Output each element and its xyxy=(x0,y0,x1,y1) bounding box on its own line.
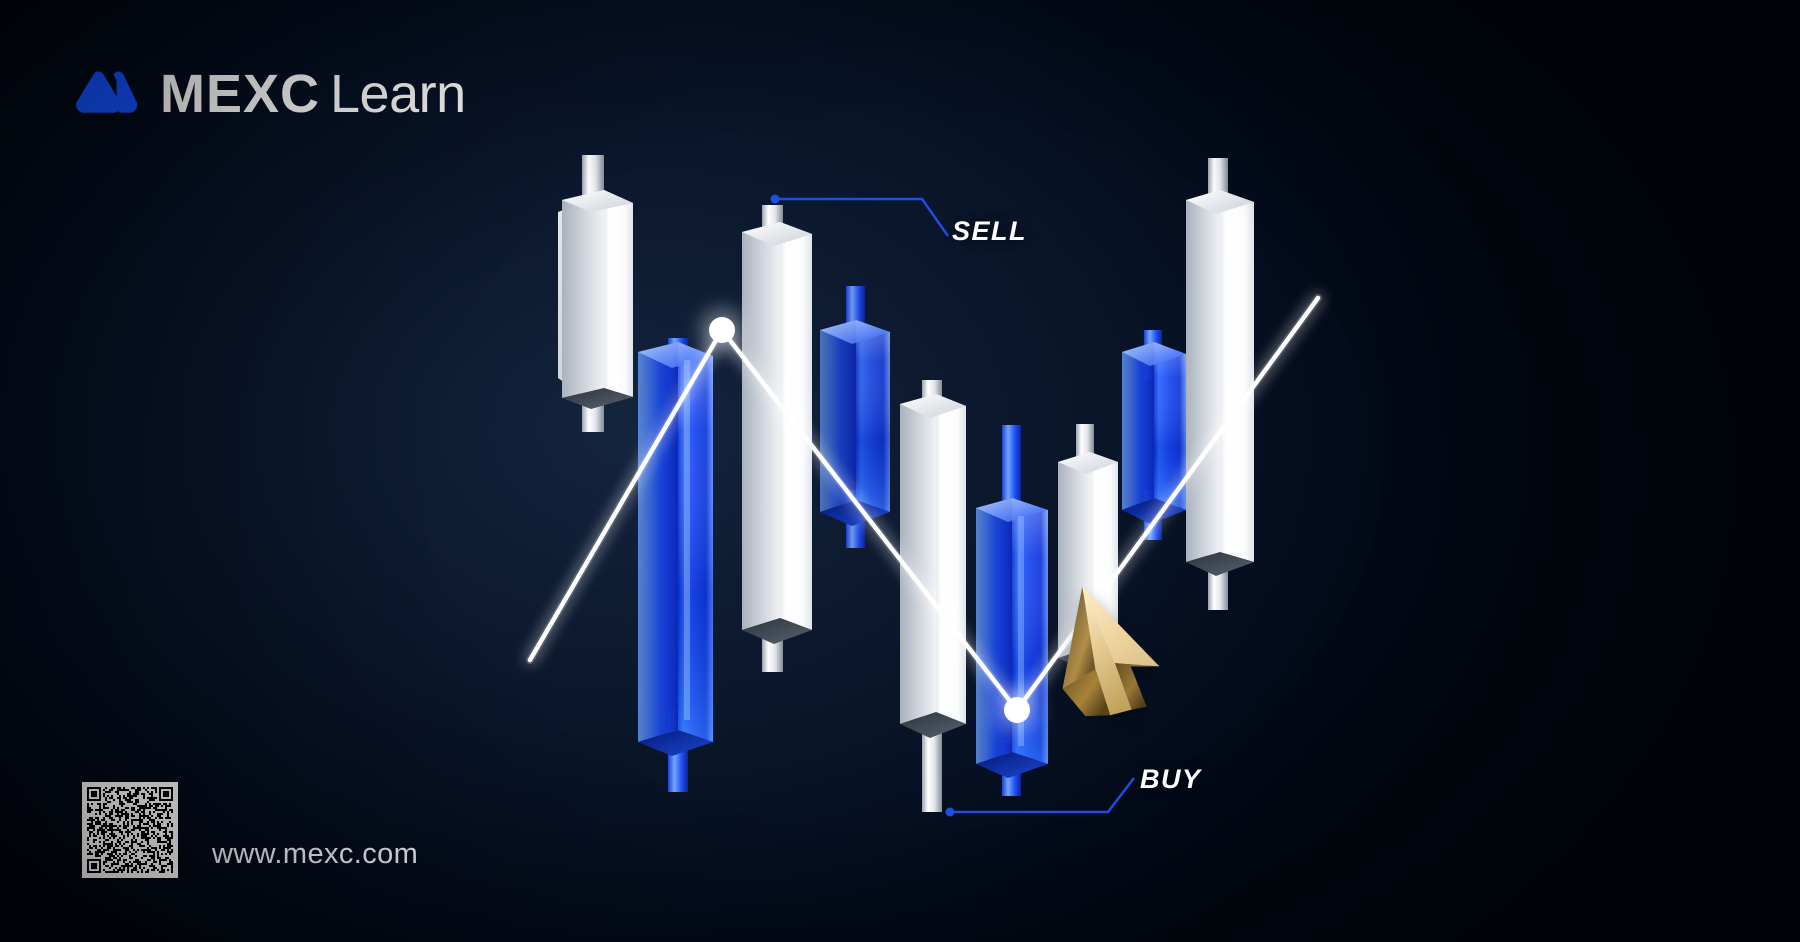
website-url: www.mexc.com xyxy=(212,838,418,871)
candle-0 xyxy=(558,155,633,432)
brand-name-light: Learn xyxy=(330,64,466,124)
sell-point-marker xyxy=(700,308,744,352)
candle-3 xyxy=(820,286,890,548)
buy-callout-line xyxy=(946,778,1135,817)
qr-code-canvas xyxy=(87,787,173,873)
mexc-mountain-logo-icon xyxy=(72,71,138,117)
buy-callout-label: BUY xyxy=(1140,764,1202,795)
qr-code-icon[interactable] xyxy=(82,782,178,878)
candlestick-chart-illustration xyxy=(0,0,1800,942)
brand-wordmark: MEXCLearn xyxy=(160,67,466,121)
sell-callout-label: SELL xyxy=(952,216,1027,247)
candle-7 xyxy=(1122,330,1186,540)
promo-banner: MEXCLearn SELL BUY www.mexc.com xyxy=(0,0,1800,942)
buy-point-marker xyxy=(995,688,1039,732)
brand-name-bold: MEXC xyxy=(160,64,320,124)
brand-lockup: MEXCLearn xyxy=(72,58,466,130)
chart-svg xyxy=(0,0,1800,942)
candle-5 xyxy=(976,425,1048,796)
candle-8 xyxy=(1186,158,1254,610)
